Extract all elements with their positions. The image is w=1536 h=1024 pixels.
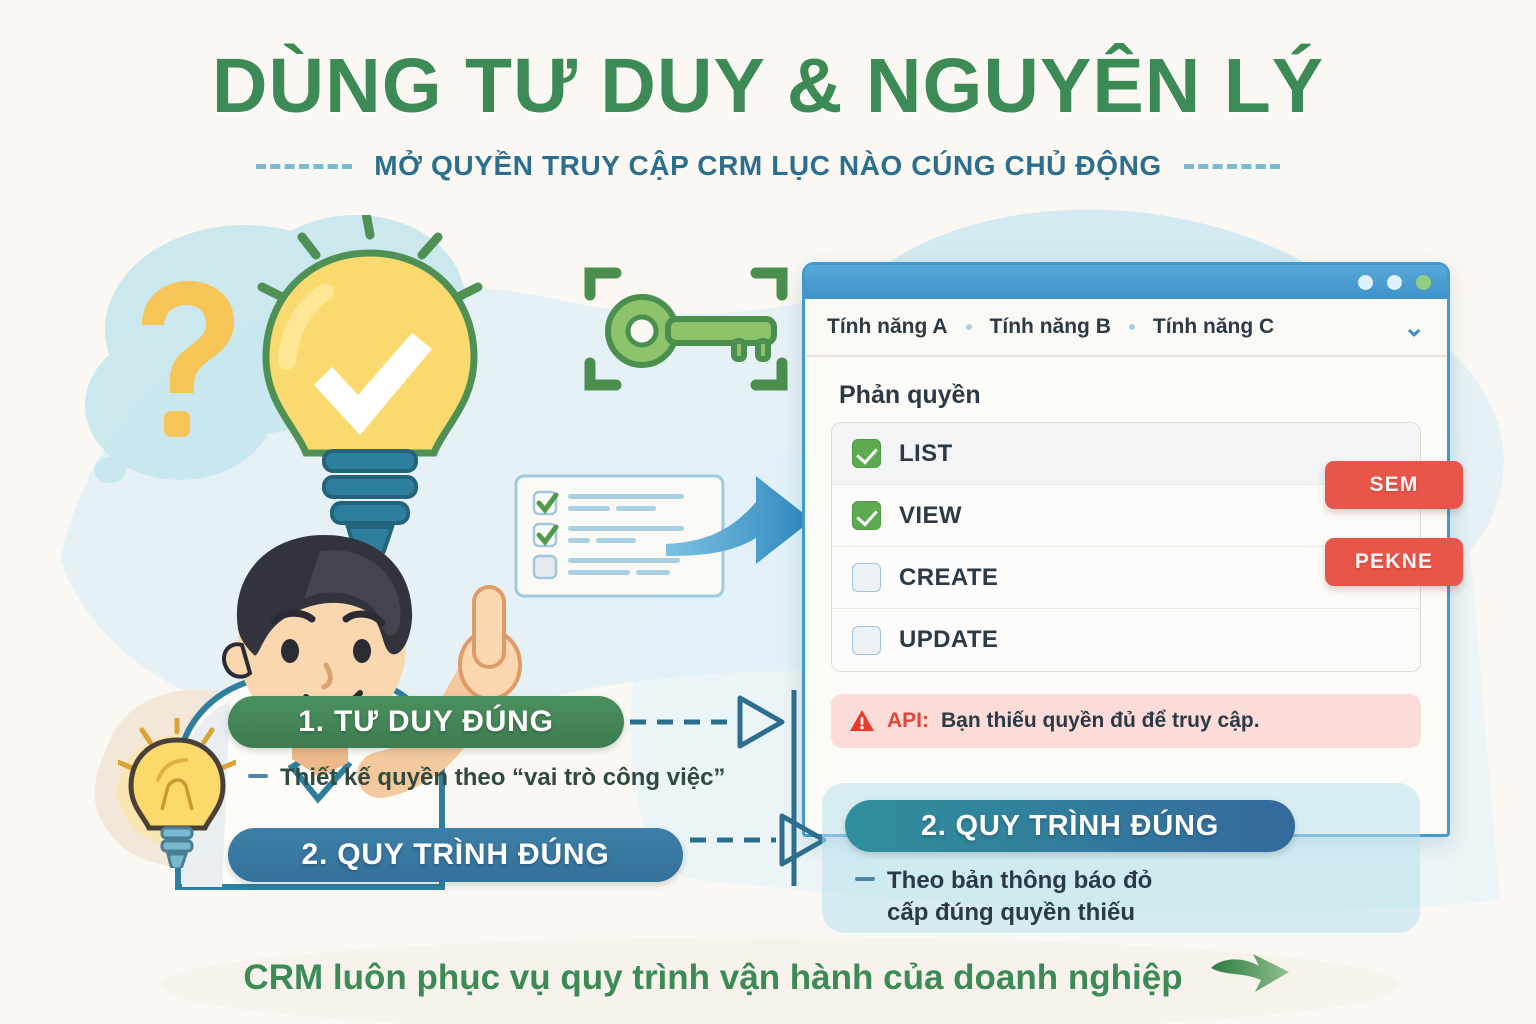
badge-perne[interactable]: PEKNE bbox=[1325, 538, 1463, 586]
arrow-curved-icon bbox=[1207, 950, 1293, 1006]
badge-sem[interactable]: SEM bbox=[1325, 461, 1463, 509]
lightbulb-icon bbox=[262, 215, 478, 557]
permission-row-update[interactable]: UPDATE bbox=[832, 609, 1420, 671]
step-description-text: Thiết kế quyền theo “vai trò công việc” bbox=[280, 762, 725, 794]
panel-title: Phản quyền bbox=[839, 381, 1447, 410]
checkbox-list[interactable] bbox=[852, 439, 881, 468]
chevron-down-icon[interactable]: ⌄ bbox=[1403, 314, 1425, 340]
warning-triangle-icon bbox=[849, 709, 875, 733]
dashed-rule-right bbox=[1184, 164, 1280, 169]
dash-bullet bbox=[248, 774, 268, 778]
page-title: DÙNG TƯ DUY & NGUYÊN LÝ bbox=[0, 42, 1536, 131]
tab-separator bbox=[1129, 324, 1135, 330]
key-icon bbox=[590, 273, 782, 385]
footer-text: CRM luôn phục vụ quy trình vận hành của … bbox=[243, 958, 1182, 998]
tab-tinh-nang-a[interactable]: Tính năng A bbox=[827, 315, 948, 339]
permission-label: CREATE bbox=[899, 564, 998, 592]
window-control-minimize[interactable] bbox=[1358, 275, 1373, 290]
step-description-1: Thiết kế quyền theo “vai trò công việc” bbox=[248, 762, 868, 794]
permission-label: VIEW bbox=[899, 502, 962, 530]
alert-message: Bạn thiếu quyền đủ để truy cập. bbox=[941, 709, 1260, 733]
dashed-rule-left bbox=[256, 164, 352, 169]
question-mark-icon bbox=[142, 281, 234, 437]
alert-label: API: bbox=[887, 709, 929, 733]
window-control-maximize[interactable] bbox=[1387, 275, 1402, 290]
tab-tinh-nang-b[interactable]: Tính năng B bbox=[990, 315, 1111, 339]
tab-tinh-nang-c[interactable]: Tính năng C bbox=[1153, 315, 1274, 339]
step-pill-2[interactable]: 2. QUY TRÌNH ĐÚNG bbox=[228, 828, 683, 882]
tab-bar: Tính năng A Tính năng B Tính năng C ⌄ bbox=[805, 299, 1447, 357]
infographic-canvas: DÙNG TƯ DUY & NGUYÊN LÝ MỞ QUYỀN TRUY CẬ… bbox=[0, 0, 1536, 1024]
checkbox-update[interactable] bbox=[852, 626, 881, 655]
checkbox-create[interactable] bbox=[852, 563, 881, 592]
window-titlebar bbox=[805, 265, 1447, 299]
right-step-description: Theo bản thông báo đỏ cấp đúng quyền thi… bbox=[855, 865, 1285, 930]
tab-separator bbox=[966, 324, 972, 330]
permission-label: LIST bbox=[899, 440, 953, 468]
page-subtitle: MỞ QUYỀN TRUY CẬP CRM LỤC NÀO CÚNG CHỦ Đ… bbox=[374, 150, 1162, 182]
api-alert-banner: API: Bạn thiếu quyền đủ để truy cập. bbox=[831, 694, 1421, 748]
footer: CRM luôn phục vụ quy trình vận hành của … bbox=[0, 950, 1536, 1006]
right-step-pill[interactable]: 2. QUY TRÌNH ĐÚNG bbox=[845, 800, 1295, 852]
right-step-description-text: Theo bản thông báo đỏ cấp đúng quyền thi… bbox=[887, 865, 1152, 930]
checklist-card bbox=[512, 472, 727, 600]
window-control-close[interactable] bbox=[1416, 275, 1431, 290]
step-pill-1[interactable]: 1. TƯ DUY ĐÚNG bbox=[228, 696, 624, 748]
dash-bullet bbox=[855, 877, 875, 881]
checkbox-view[interactable] bbox=[852, 501, 881, 530]
permission-label: UPDATE bbox=[899, 626, 998, 654]
subtitle-row: MỞ QUYỀN TRUY CẬP CRM LỤC NÀO CÚNG CHỦ Đ… bbox=[0, 150, 1536, 182]
